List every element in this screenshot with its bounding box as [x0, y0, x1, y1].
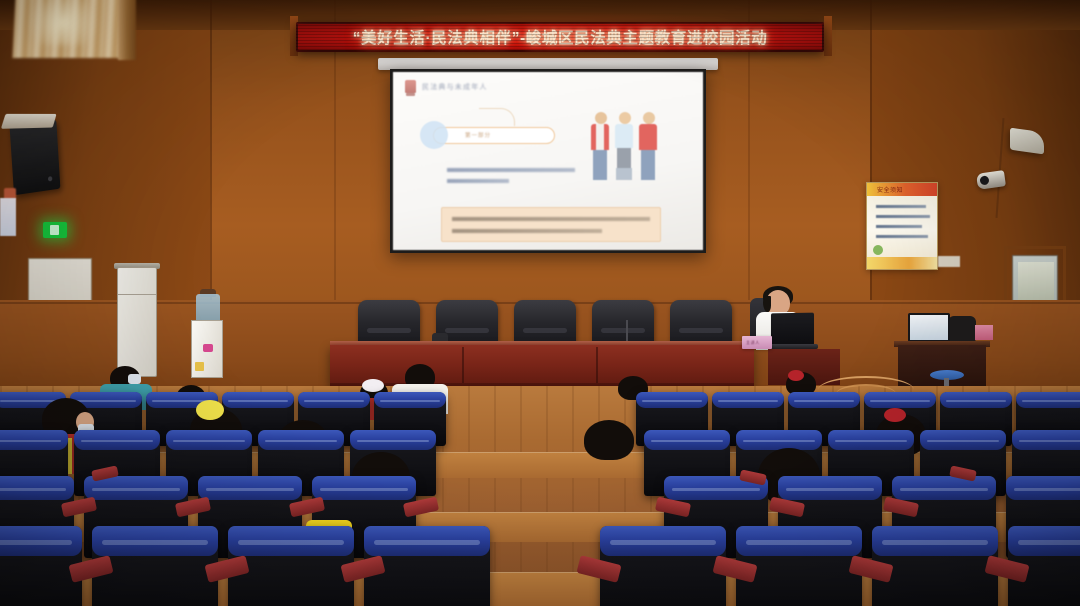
audience-head [584, 420, 634, 460]
hair-bow [884, 408, 906, 422]
laptop-base [766, 344, 818, 349]
presenter-hair-side [763, 296, 771, 312]
led-banner: “美好生活·民法典相伴”-峻城区民法典主题教育进校园活动 [296, 22, 824, 52]
control-desk [898, 345, 986, 387]
projector-screen: 民法典与未成年人 第一部分 [393, 72, 703, 250]
illustration-figure [615, 112, 633, 180]
slide-body [447, 168, 577, 190]
window-light-glow [28, 0, 98, 45]
wall-label-plate [938, 256, 960, 267]
illustration-figure [591, 112, 609, 180]
wall-poster: 安全须知 [866, 182, 938, 270]
poster-title: 安全须知 [877, 185, 903, 194]
slide-section-pill [433, 127, 555, 144]
table-seam [596, 347, 598, 387]
banner-bracket [824, 16, 832, 56]
illustration-figure [639, 112, 657, 180]
poster-footer-band [867, 257, 937, 269]
emergency-exit-sign-icon [43, 222, 67, 238]
name-card-text: 主讲人 [746, 340, 760, 346]
face-mask [128, 374, 141, 384]
laptop [771, 313, 814, 346]
desk-chair [948, 316, 976, 344]
hair-bow [362, 379, 384, 392]
slide-heading: 民法典与未成年人 [422, 82, 488, 92]
slide-section-bullet-icon [420, 121, 448, 149]
left-wall-speaker-icon [9, 120, 60, 196]
slide-section-label: 第一部分 [465, 131, 491, 139]
table-seam [462, 347, 464, 387]
slide-illustration [589, 102, 661, 184]
auditorium-photo: 安全须知 民法典与未成年人 第一部分 [0, 0, 1080, 606]
desk-pink-box [975, 325, 993, 340]
white-cabinet [117, 267, 157, 377]
hair-bow [788, 370, 804, 381]
projector-screen-frame: 民法典与未成年人 第一部分 [390, 69, 706, 253]
banner-text: “美好生活·民法典相伴”-峻城区民法典主题教育进校园活动 [353, 26, 768, 48]
led-banner-panel: “美好生活·民法典相伴”-峻城区民法典主题教育进校园活动 [298, 24, 822, 50]
dispenser-sticker [195, 362, 204, 371]
monitor-screen [910, 315, 948, 340]
left-small-poster [0, 198, 16, 236]
aisle-step [0, 452, 1080, 478]
control-monitor [908, 313, 950, 342]
poster-body-lines [876, 205, 930, 245]
slide-decor-arc-icon [479, 108, 515, 126]
hair-bow [196, 400, 224, 420]
poster-logo-icon [873, 245, 883, 255]
slide-logo-icon [405, 80, 416, 93]
conference-table [330, 345, 754, 387]
curtain-edge [118, 0, 136, 60]
name-card: 主讲人 [742, 336, 772, 349]
water-dispenser-tap-icon [203, 344, 213, 352]
speaker-driver-icon [48, 176, 53, 181]
slide-note-box [441, 207, 661, 242]
